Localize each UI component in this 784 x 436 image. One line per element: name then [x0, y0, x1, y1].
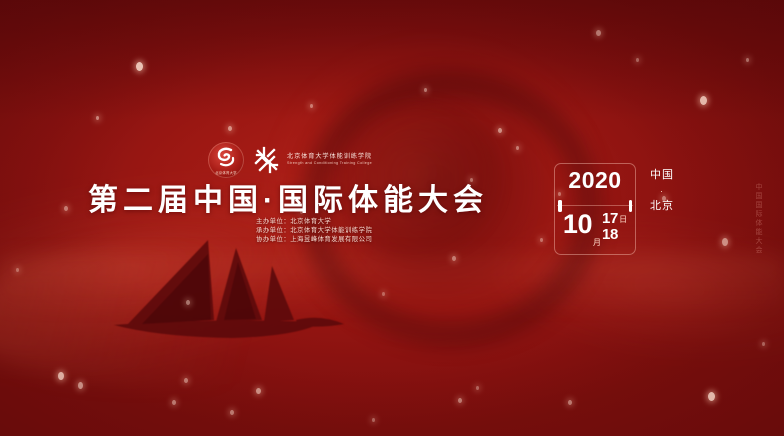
- seal-caption: 北京体育大学: [208, 172, 244, 175]
- light-particle: [700, 96, 707, 105]
- date-month-unit: 月: [593, 237, 601, 248]
- date-year: 2020: [555, 169, 635, 192]
- light-particle: [228, 126, 232, 131]
- light-particle: [58, 372, 64, 380]
- light-particle: [762, 342, 765, 346]
- organizer-line: 协办单位：上海昱峰体育发展有限公司: [256, 237, 372, 243]
- angular-knot-emblem-icon: [253, 146, 281, 174]
- vignette-overlay: [0, 0, 784, 436]
- light-particle: [78, 382, 83, 389]
- organizer-list: 主办单位：北京体育大学 承办单位：北京体育大学体能训练学院 协办单位：上海昱峰体…: [256, 219, 372, 243]
- side-watermark: 中国国际体能大会: [753, 183, 763, 255]
- date-divider: [557, 205, 633, 206]
- event-date-card: 2020 10 月 17 18 日: [554, 163, 636, 255]
- circular-seal-logo: 北京体育大学: [208, 142, 244, 178]
- institute-logo: 北京体育大学体能训练学院 Strength and Conditioning T…: [253, 146, 372, 174]
- light-particle: [64, 206, 68, 211]
- light-particle: [382, 292, 385, 296]
- date-day-unit: 日: [619, 214, 627, 225]
- light-particle: [256, 388, 261, 394]
- organizer-line: 主办单位：北京体育大学: [256, 219, 372, 225]
- location-city: 北京: [650, 199, 674, 215]
- light-particle: [746, 58, 749, 62]
- organizer-line: 承办单位：北京体育大学体能训练学院: [256, 228, 372, 234]
- light-particle: [708, 392, 715, 401]
- light-particle: [424, 88, 427, 92]
- light-particle: [540, 238, 543, 242]
- light-particle: [136, 62, 143, 71]
- date-day-first: 17: [602, 211, 618, 226]
- light-particle: [184, 378, 188, 383]
- light-particle: [458, 398, 462, 403]
- logo-row: 北京体育大学 北京体育大学体能训练学院 Strength and Conditi…: [208, 142, 372, 178]
- light-particle: [16, 268, 19, 272]
- sailboat-silhouette: [112, 232, 372, 350]
- light-particle: [498, 128, 502, 133]
- light-particle: [722, 238, 728, 246]
- institute-name-en: Strength and Conditioning Training Colle…: [287, 162, 372, 166]
- institute-name-cn: 北京体育大学体能训练学院: [287, 154, 372, 160]
- date-days: 17 18: [602, 211, 618, 242]
- date-lower-row: 10 月 17 18 日: [555, 211, 635, 253]
- light-particle: [186, 300, 190, 305]
- page-title: 第二届中国·国际体能大会: [88, 186, 478, 216]
- light-particle: [452, 256, 456, 261]
- light-particle: [516, 146, 519, 150]
- light-particle: [476, 386, 479, 390]
- light-particle: [372, 418, 375, 422]
- light-particle: [172, 400, 176, 405]
- date-tick-right: [629, 200, 633, 212]
- location-country: 中国: [650, 168, 674, 184]
- light-particle: [230, 410, 234, 415]
- event-location: 中国 · 北京: [650, 168, 674, 215]
- date-month: 10: [563, 211, 592, 238]
- light-particle: [96, 116, 99, 120]
- light-particle: [636, 58, 639, 62]
- location-separator: ·: [660, 185, 664, 198]
- date-day-second: 18: [602, 227, 618, 242]
- date-tick-left: [558, 200, 562, 212]
- seal-swirl-icon: [214, 146, 238, 168]
- light-particle: [596, 30, 601, 36]
- light-particle: [470, 178, 473, 182]
- light-particle: [310, 104, 313, 108]
- event-poster: 北京体育大学 北京体育大学体能训练学院 Strength and Conditi…: [0, 0, 784, 436]
- light-particle: [568, 400, 572, 405]
